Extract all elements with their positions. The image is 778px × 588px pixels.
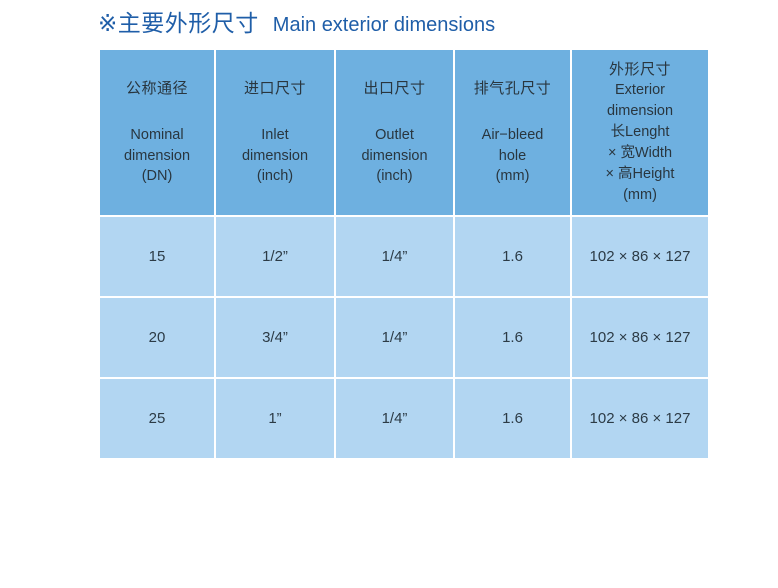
table-header-row: 公称通径 Nominal dimension (DN) 进口尺寸 Inlet d… xyxy=(100,50,708,215)
page-title-english: Main exterior dimensions xyxy=(273,15,495,35)
cell-value: 1” xyxy=(216,410,334,427)
cell-air-bleed-hole: 1.6 xyxy=(455,298,570,377)
spacer xyxy=(216,99,334,125)
table-row: 20 3/4” 1/4” 1.6 102 × 86 × 127 xyxy=(100,298,708,377)
cell-value: 102 × 86 × 127 xyxy=(572,329,708,346)
cell-exterior-dimension: 102 × 86 × 127 xyxy=(572,298,708,377)
column-header-en-line: dimension xyxy=(336,146,453,167)
column-header-cn: 出口尺寸 xyxy=(336,78,453,99)
column-header-air-bleed-hole: 排气孔尺寸 Air−bleed hole (mm) xyxy=(455,50,570,215)
column-header-en-line: dimension xyxy=(572,101,708,122)
cell-value: 1/4” xyxy=(336,248,453,265)
cell-value: 15 xyxy=(100,248,214,265)
cell-outlet-dimension: 1/4” xyxy=(336,217,453,296)
column-header-inlet-dimension: 进口尺寸 Inlet dimension (inch) xyxy=(216,50,334,215)
cell-value: 25 xyxy=(100,410,214,427)
cell-value: 1/4” xyxy=(336,329,453,346)
cell-nominal-dimension: 15 xyxy=(100,217,214,296)
table-row: 25 1” 1/4” 1.6 102 × 86 × 127 xyxy=(100,379,708,458)
column-header-en-line: hole xyxy=(455,146,570,167)
cell-air-bleed-hole: 1.6 xyxy=(455,217,570,296)
cell-value: 1/2” xyxy=(216,248,334,265)
column-header-en-line: Nominal xyxy=(100,125,214,146)
column-header-en-line: Exterior xyxy=(572,80,708,101)
spacer xyxy=(455,99,570,125)
cell-exterior-dimension: 102 × 86 × 127 xyxy=(572,379,708,458)
cell-value: 102 × 86 × 127 xyxy=(572,410,708,427)
column-header-en-line: (mm) xyxy=(455,166,570,187)
table-header: 公称通径 Nominal dimension (DN) 进口尺寸 Inlet d… xyxy=(100,50,708,215)
column-header-en-line: Outlet xyxy=(336,125,453,146)
cell-nominal-dimension: 25 xyxy=(100,379,214,458)
cell-value: 1.6 xyxy=(455,329,570,346)
cell-outlet-dimension: 1/4” xyxy=(336,298,453,377)
cell-outlet-dimension: 1/4” xyxy=(336,379,453,458)
cell-value: 102 × 86 × 127 xyxy=(572,248,708,265)
column-header-en-line: (DN) xyxy=(100,166,214,187)
cell-value: 1/4” xyxy=(336,410,453,427)
column-header-cn: 进口尺寸 xyxy=(216,78,334,99)
cell-value: 3/4” xyxy=(216,329,334,346)
page-title-chinese-text: 主要外形尺寸 xyxy=(118,10,259,36)
cell-inlet-dimension: 1/2” xyxy=(216,217,334,296)
table-row: 15 1/2” 1/4” 1.6 102 × 86 × 127 xyxy=(100,217,708,296)
column-header-en-line: dimension xyxy=(216,146,334,167)
column-header-en-line: (inch) xyxy=(336,166,453,187)
table-body: 15 1/2” 1/4” 1.6 102 × 86 × 127 20 3/4” … xyxy=(100,217,708,458)
column-header-cn: 外形尺寸 xyxy=(572,59,708,80)
cell-inlet-dimension: 1” xyxy=(216,379,334,458)
cell-value: 1.6 xyxy=(455,248,570,265)
column-header-en-line: (inch) xyxy=(216,166,334,187)
page-title: ※主要外形尺寸 Main exterior dimensions xyxy=(98,12,495,44)
cell-air-bleed-hole: 1.6 xyxy=(455,379,570,458)
column-header-nominal-dimension: 公称通径 Nominal dimension (DN) xyxy=(100,50,214,215)
spacer xyxy=(100,99,214,125)
column-header-en-line: dimension xyxy=(100,146,214,167)
column-header-outlet-dimension: 出口尺寸 Outlet dimension (inch) xyxy=(336,50,453,215)
cell-value: 20 xyxy=(100,329,214,346)
column-header-en-line: Inlet xyxy=(216,125,334,146)
column-header-en-line: (mm) xyxy=(572,185,708,206)
column-header-en-line: 长Lenght xyxy=(572,122,708,143)
cell-inlet-dimension: 3/4” xyxy=(216,298,334,377)
column-header-exterior-dimension: 外形尺寸 Exterior dimension 长Lenght × 宽Width… xyxy=(572,50,708,215)
page-title-chinese: ※主要外形尺寸 xyxy=(98,12,259,35)
column-header-en-line: × 高Height xyxy=(572,164,708,185)
cell-exterior-dimension: 102 × 86 × 127 xyxy=(572,217,708,296)
column-header-en-line: Air−bleed xyxy=(455,125,570,146)
cell-nominal-dimension: 20 xyxy=(100,298,214,377)
column-header-cn: 排气孔尺寸 xyxy=(455,78,570,99)
spacer xyxy=(336,99,453,125)
column-header-cn: 公称通径 xyxy=(100,78,214,99)
reference-mark-icon: ※ xyxy=(98,10,118,36)
main-exterior-dimensions-table: 公称通径 Nominal dimension (DN) 进口尺寸 Inlet d… xyxy=(98,48,710,460)
column-header-en-line: × 宽Width xyxy=(572,143,708,164)
cell-value: 1.6 xyxy=(455,410,570,427)
